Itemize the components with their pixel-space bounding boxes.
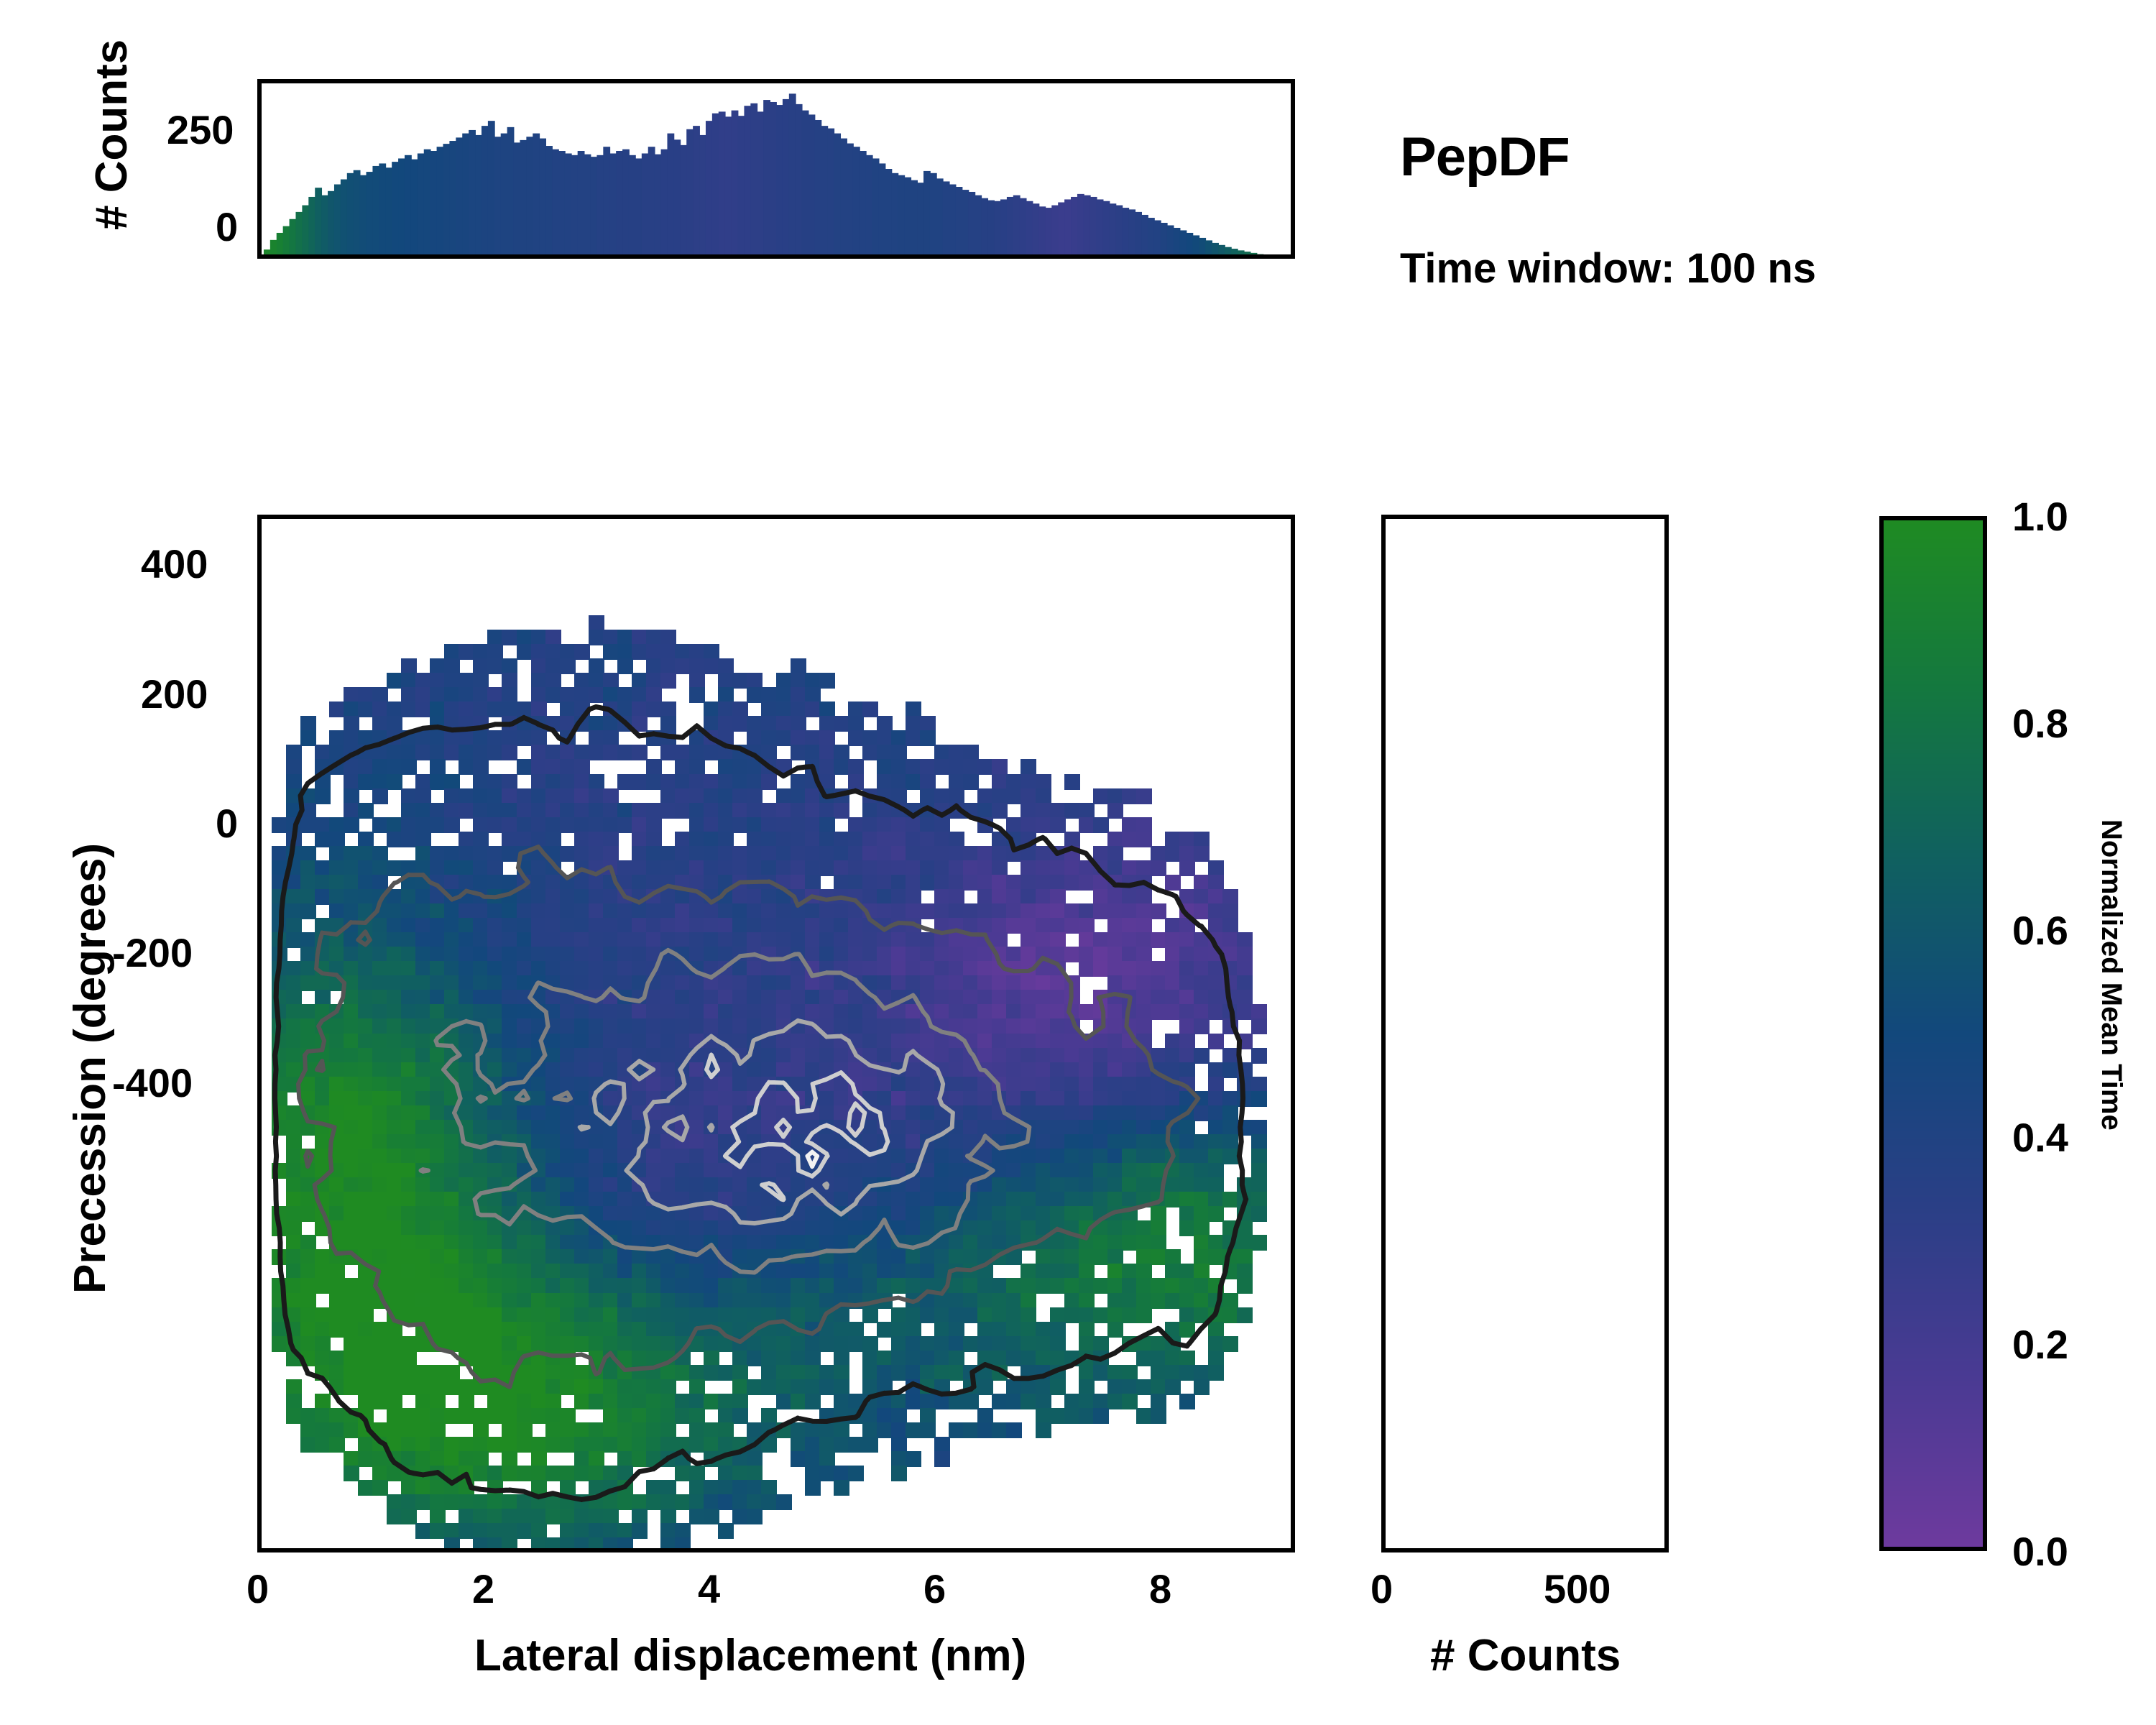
figure-canvas: 250 0 # Counts PepDF Time window: 100 ns… [0, 0, 2156, 1725]
axis-tick-overlay [0, 0, 2156, 1725]
